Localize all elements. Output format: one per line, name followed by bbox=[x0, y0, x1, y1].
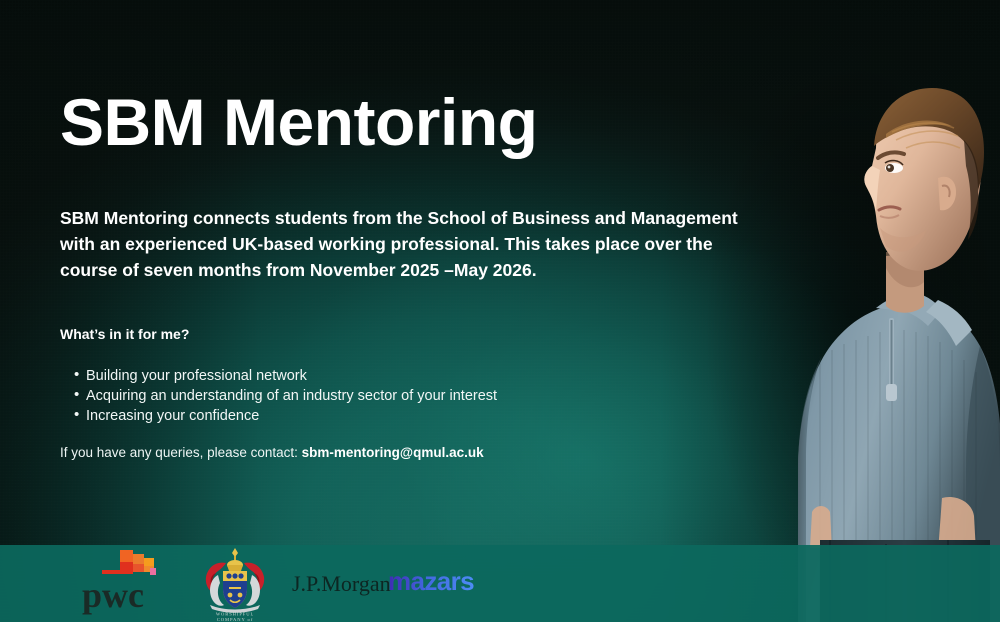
list-item: Building your professional network bbox=[60, 366, 497, 386]
list-item: Acquiring an understanding of an industr… bbox=[60, 386, 497, 406]
marketors-logo: WORSHIPFUL COMPANY of bbox=[196, 545, 274, 622]
jpmorgan-wordmark: J.P.Morgan bbox=[292, 571, 391, 596]
contact-prefix: If you have any queries, please contact: bbox=[60, 445, 302, 460]
pwc-wordmark: pwc bbox=[82, 575, 144, 615]
poster-canvas: SBM Mentoring SBM Mentoring connects stu… bbox=[0, 0, 1000, 622]
list-item: Increasing your confidence bbox=[60, 406, 497, 426]
intro-paragraph: SBM Mentoring connects students from the… bbox=[60, 205, 750, 283]
benefits-heading: What’s in it for me? bbox=[60, 326, 189, 342]
mazars-logo: mazars bbox=[388, 545, 486, 622]
pwc-mark bbox=[102, 550, 156, 575]
marketors-line-1: WORSHIPFUL bbox=[216, 612, 254, 617]
jpmorgan-logo: J.P.Morgan bbox=[292, 545, 392, 622]
contact-email-link[interactable]: sbm-mentoring@qmul.ac.uk bbox=[302, 445, 484, 460]
marketors-crest bbox=[206, 548, 264, 613]
benefits-list: Building your professional network Acqui… bbox=[60, 366, 497, 426]
partner-logo-bar: pwc bbox=[0, 545, 1000, 622]
man-portrait-photo bbox=[680, 0, 1000, 622]
mazars-wordmark: mazars bbox=[388, 566, 474, 596]
marketors-line-2: COMPANY of bbox=[217, 617, 253, 622]
page-title: SBM Mentoring bbox=[60, 89, 537, 155]
contact-line: If you have any queries, please contact:… bbox=[60, 445, 484, 460]
pwc-logo: pwc bbox=[80, 545, 185, 622]
